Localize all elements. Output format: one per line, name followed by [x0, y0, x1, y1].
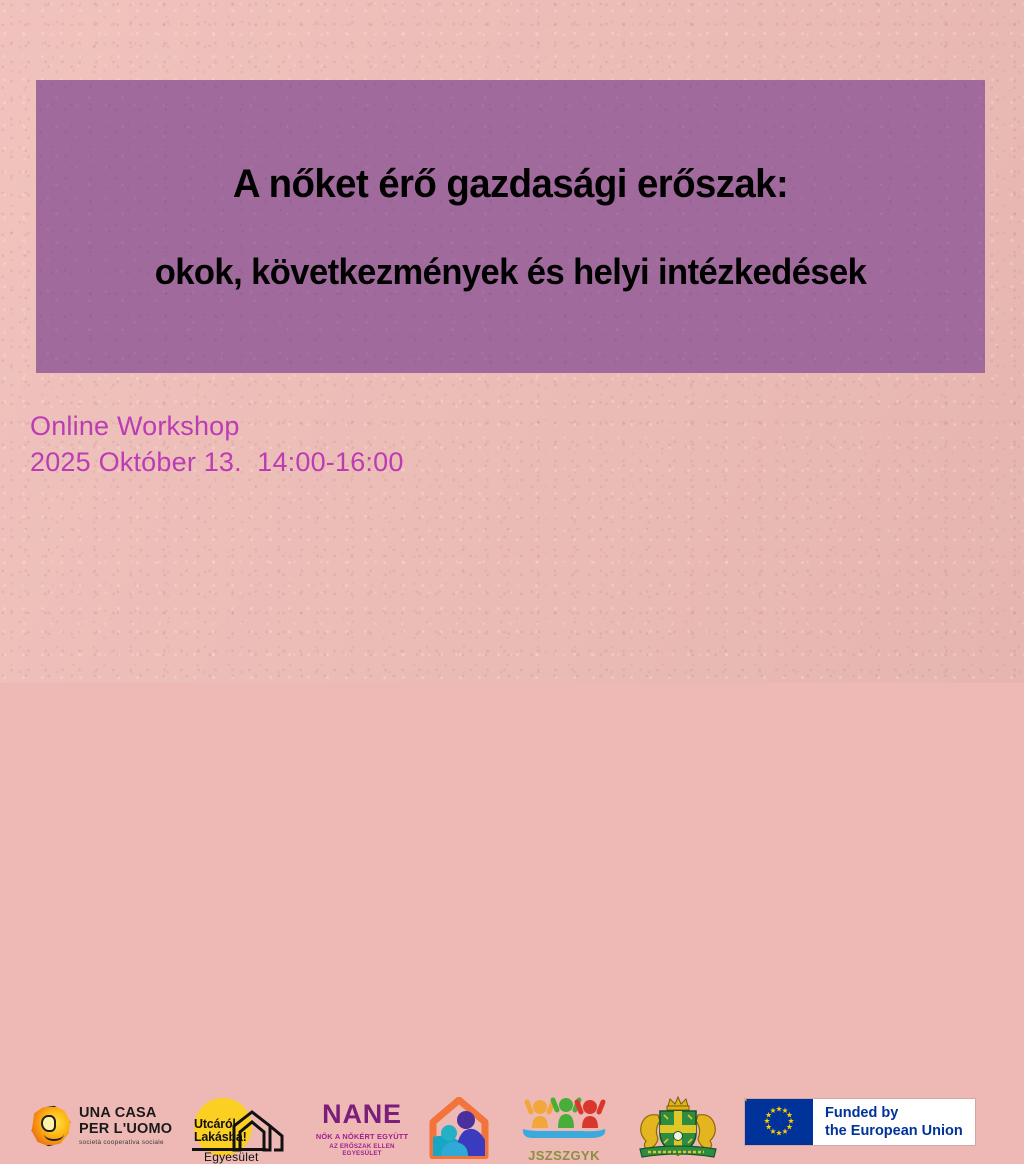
logo-utcarol-line1: Utcáról	[194, 1118, 247, 1131]
logo-una-casa-line2: PER L'UOMO	[79, 1122, 172, 1137]
page-title-line-1: A nőket érő gazdasági erőszak:	[55, 164, 966, 204]
logo-utcarol-tagline: Egyesület	[204, 1150, 259, 1164]
event-type-label: Online Workshop	[30, 409, 404, 445]
house-family-icon	[428, 1097, 490, 1159]
logo-nane: NANE NŐK A NŐKÉRT EGYÜTT AZ ERŐSZAK ELLE…	[310, 1101, 414, 1157]
eu-flag-icon	[745, 1099, 813, 1145]
logo-nane-line2: NŐK A NŐKÉRT EGYÜTT	[310, 1132, 414, 1141]
logo-nane-line3: AZ ERŐSZAK ELLEN EGYESÜLET	[310, 1143, 414, 1157]
logo-una-casa-per-luomo: UNA CASA PER L'UOMO società cooperativa …	[30, 1105, 172, 1147]
partner-logo-strip: UNA CASA PER L'UOMO società cooperativa …	[0, 545, 1024, 625]
eu-funding-line2: the European Union	[825, 1122, 963, 1140]
logo-jszszgyk: JSZSZGYK	[516, 1096, 612, 1163]
event-details: Online Workshop 2025 Október 13. 14:00-1…	[30, 409, 404, 480]
heraldic-coat-of-arms-icon	[634, 1095, 722, 1161]
logo-una-casa-line1: UNA CASA	[79, 1106, 172, 1121]
event-datetime-label: 2025 Október 13. 14:00-16:00	[30, 445, 404, 481]
hand-people-icon	[519, 1096, 609, 1142]
logo-nane-wordmark: NANE	[310, 1101, 414, 1128]
logo-utcarol-line2: Lakásba!	[194, 1131, 247, 1144]
logo-utcarol-lakasba: Utcáról Lakásba! Egyesület	[186, 1096, 296, 1162]
logo-shelter-house	[428, 1097, 490, 1159]
page-title-line-2: okok, következmények és helyi intézkedés…	[55, 254, 966, 290]
logo-jszszgyk-label: JSZSZGYK	[516, 1148, 612, 1163]
logo-utcarol-wordmark: Utcáról Lakásba!	[194, 1118, 247, 1144]
eu-funding-line1: Funded by	[825, 1104, 963, 1122]
logo-una-casa-tagline: società cooperativa sociale	[79, 1140, 172, 1146]
logo-european-union: Funded by the European Union	[745, 1099, 975, 1145]
logo-coat-of-arms	[634, 1095, 722, 1161]
title-banner: A nőket érő gazdasági erőszak: okok, köv…	[36, 80, 985, 373]
face-blob-icon	[30, 1105, 72, 1147]
